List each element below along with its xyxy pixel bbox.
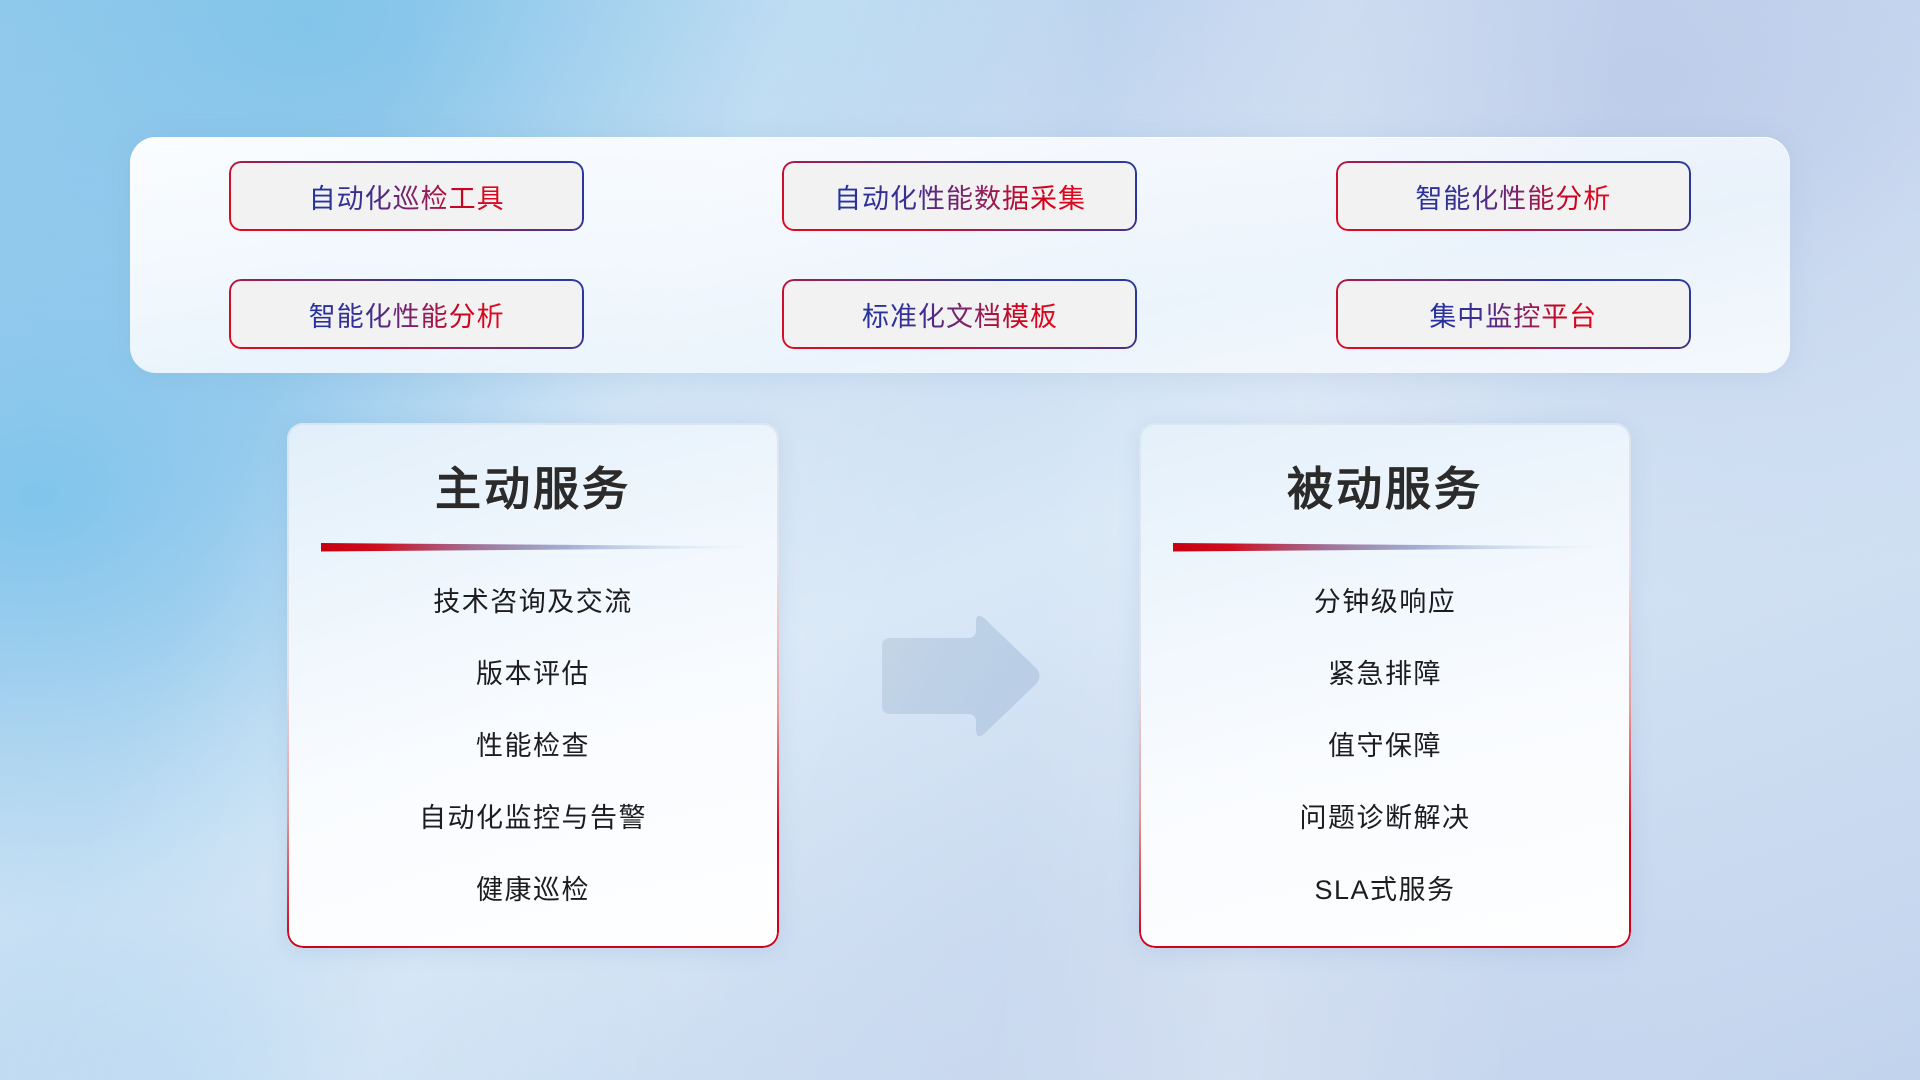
service-item: 版本评估 — [287, 661, 779, 688]
service-item: 紧急排障 — [1139, 661, 1631, 688]
card-title-passive: 被动服务 — [1139, 423, 1631, 519]
capability-button-0[interactable]: 自动化巡检工具 — [229, 161, 584, 231]
capability-button-label: 自动化性能数据采集 — [834, 177, 1086, 216]
title-divider — [1173, 541, 1597, 555]
capability-button-label: 集中监控平台 — [1429, 295, 1597, 334]
service-item-list-passive: 分钟级响应 紧急排障 值守保障 问题诊断解决 SLA式服务 — [1139, 555, 1631, 904]
capability-button-label: 智能化性能分析 — [309, 295, 505, 334]
capability-button-label: 智能化性能分析 — [1415, 177, 1611, 216]
slide-canvas: 自动化巡检工具 自动化性能数据采集 智能化性能分析 智能化性能分析 标准化文档模… — [0, 0, 1920, 1080]
title-divider — [321, 541, 745, 555]
arrow-right-icon — [872, 608, 1044, 744]
service-item: 分钟级响应 — [1139, 589, 1631, 616]
service-item: 值守保障 — [1139, 733, 1631, 760]
capability-button-5[interactable]: 集中监控平台 — [1336, 279, 1691, 349]
service-item: 问题诊断解决 — [1139, 805, 1631, 832]
service-item-list-active: 技术咨询及交流 版本评估 性能检查 自动化监控与告警 健康巡检 — [287, 555, 779, 904]
capability-button-label: 标准化文档模板 — [862, 295, 1058, 334]
service-item: 健康巡检 — [287, 877, 779, 904]
capability-button-3[interactable]: 智能化性能分析 — [229, 279, 584, 349]
service-item: 技术咨询及交流 — [287, 589, 779, 616]
capability-button-1[interactable]: 自动化性能数据采集 — [782, 161, 1137, 231]
card-title-active: 主动服务 — [287, 423, 779, 519]
service-item: 性能检查 — [287, 733, 779, 760]
service-item: SLA式服务 — [1139, 877, 1631, 904]
capability-panel: 自动化巡检工具 自动化性能数据采集 智能化性能分析 智能化性能分析 标准化文档模… — [130, 137, 1790, 373]
service-card-passive: 被动服务 分钟级响应 紧急排障 值守保障 — [1139, 423, 1631, 948]
service-item: 自动化监控与告警 — [287, 805, 779, 832]
capability-button-2[interactable]: 智能化性能分析 — [1336, 161, 1691, 231]
service-card-active: 主动服务 技术咨询及交流 版本评估 性能检查 — [287, 423, 779, 948]
capability-button-label: 自动化巡检工具 — [309, 177, 505, 216]
capability-button-4[interactable]: 标准化文档模板 — [782, 279, 1137, 349]
